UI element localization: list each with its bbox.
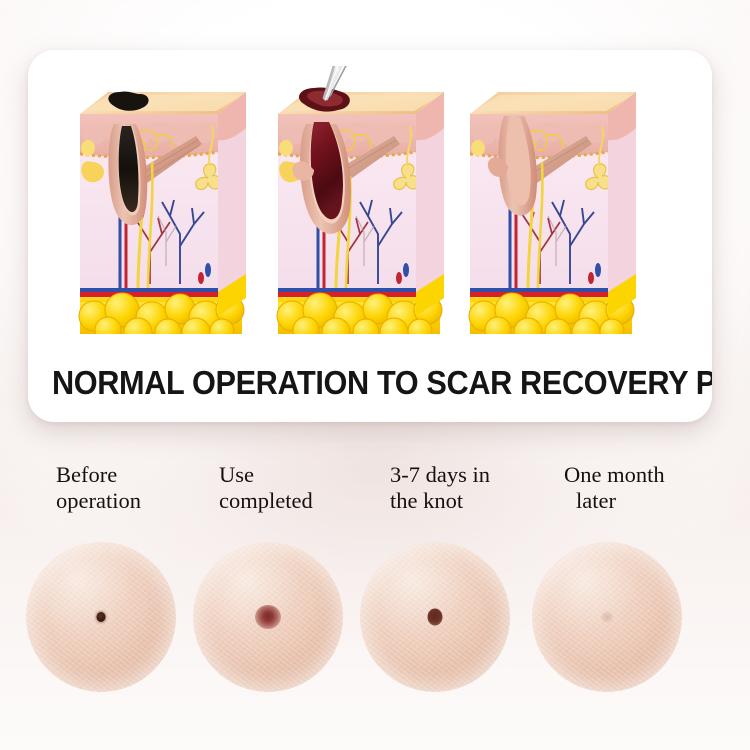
page-title: NORMAL OPERATION TO SCAR RECOVERY PROCES… (52, 364, 688, 402)
lesion-cleared-icon (601, 612, 614, 623)
stage-label-line1: One month (564, 462, 665, 487)
stage-label-3-7-days: 3-7 days in the knot (352, 462, 528, 520)
stage-label-before-operation: Before operation (18, 462, 194, 520)
lesion-wound-icon (255, 605, 281, 629)
stage-label-use-completed: Use completed (185, 462, 361, 520)
skin-photo-one-month-later (524, 542, 700, 718)
skin-cross-section-healed (460, 66, 660, 334)
stage-label-line2: completed (219, 488, 361, 514)
stage-label-line1: Use (219, 462, 254, 487)
skin-photo-use-completed (185, 542, 361, 718)
stage-label-line1: 3-7 days in (390, 462, 490, 487)
skin-photo-3-7-days (352, 542, 528, 718)
skin-photo-before-operation (18, 542, 194, 718)
lesion-scab-icon (428, 609, 443, 626)
stage-use-completed: Use completed (185, 462, 361, 732)
stage-label-one-month-later: One month later (524, 462, 700, 520)
stage-label-line2: later (564, 488, 700, 514)
skin-panel-group (28, 66, 712, 334)
stage-label-line2: the knot (390, 488, 528, 514)
recovery-stage-row: Before operation Use completed (0, 462, 750, 732)
skin-cross-section-treatment (268, 66, 468, 334)
stage-label-line1: Before (56, 462, 117, 487)
stage-one-month-later: One month later (524, 462, 700, 732)
diagram-card: NORMAL OPERATION TO SCAR RECOVERY PROCES… (28, 50, 712, 422)
skin-cross-section-before (70, 66, 270, 334)
stage-3-7-days: 3-7 days in the knot (352, 462, 528, 732)
lesion-mole-icon (97, 612, 106, 622)
stage-label-line2: operation (56, 488, 194, 514)
stage-before-operation: Before operation (18, 462, 194, 732)
